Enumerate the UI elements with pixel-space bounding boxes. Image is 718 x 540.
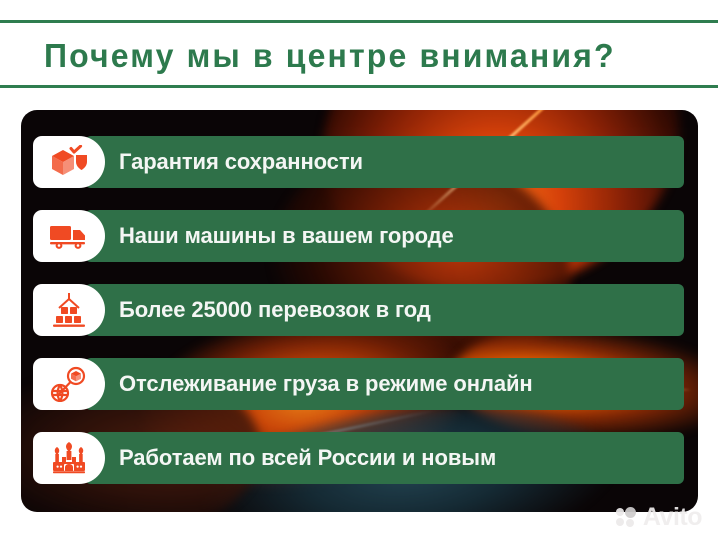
crane-boxes-icon xyxy=(33,284,105,336)
page-title: Почему мы в центре внимания? xyxy=(44,30,684,82)
features-panel: Гарантия сохранности xyxy=(21,110,698,512)
avito-wordmark: Avito xyxy=(643,505,702,530)
feature-row-coverage[interactable]: Работаем по всей России и новым xyxy=(33,432,684,484)
avito-dots-icon xyxy=(616,507,638,527)
feature-label: Работаем по всей России и новым xyxy=(119,432,496,484)
delivery-truck-icon xyxy=(33,210,105,262)
poster-page: Почему мы в центре внимания? xyxy=(0,0,718,540)
feature-row-guarantee[interactable]: Гарантия сохранности xyxy=(33,136,684,188)
feature-label: Наши машины в вашем городе xyxy=(119,210,454,262)
feature-label: Гарантия сохранности xyxy=(119,136,363,188)
avito-watermark: Avito xyxy=(616,502,702,532)
magnifier-package-tracking-icon xyxy=(33,358,105,410)
feature-row-volume[interactable]: Более 25000 перевозок в год xyxy=(33,284,684,336)
header-top-rule xyxy=(0,20,718,23)
feature-row-tracking[interactable]: Отслеживание груза в режиме онлайн xyxy=(33,358,684,410)
feature-row-fleet[interactable]: Наши машины в вашем городе xyxy=(33,210,684,262)
feature-list: Гарантия сохранности xyxy=(21,110,698,512)
header-bottom-rule xyxy=(0,85,718,88)
russia-cathedral-icon xyxy=(33,432,105,484)
box-shield-check-icon xyxy=(33,136,105,188)
feature-label: Отслеживание груза в режиме онлайн xyxy=(119,358,533,410)
feature-label: Более 25000 перевозок в год xyxy=(119,284,431,336)
